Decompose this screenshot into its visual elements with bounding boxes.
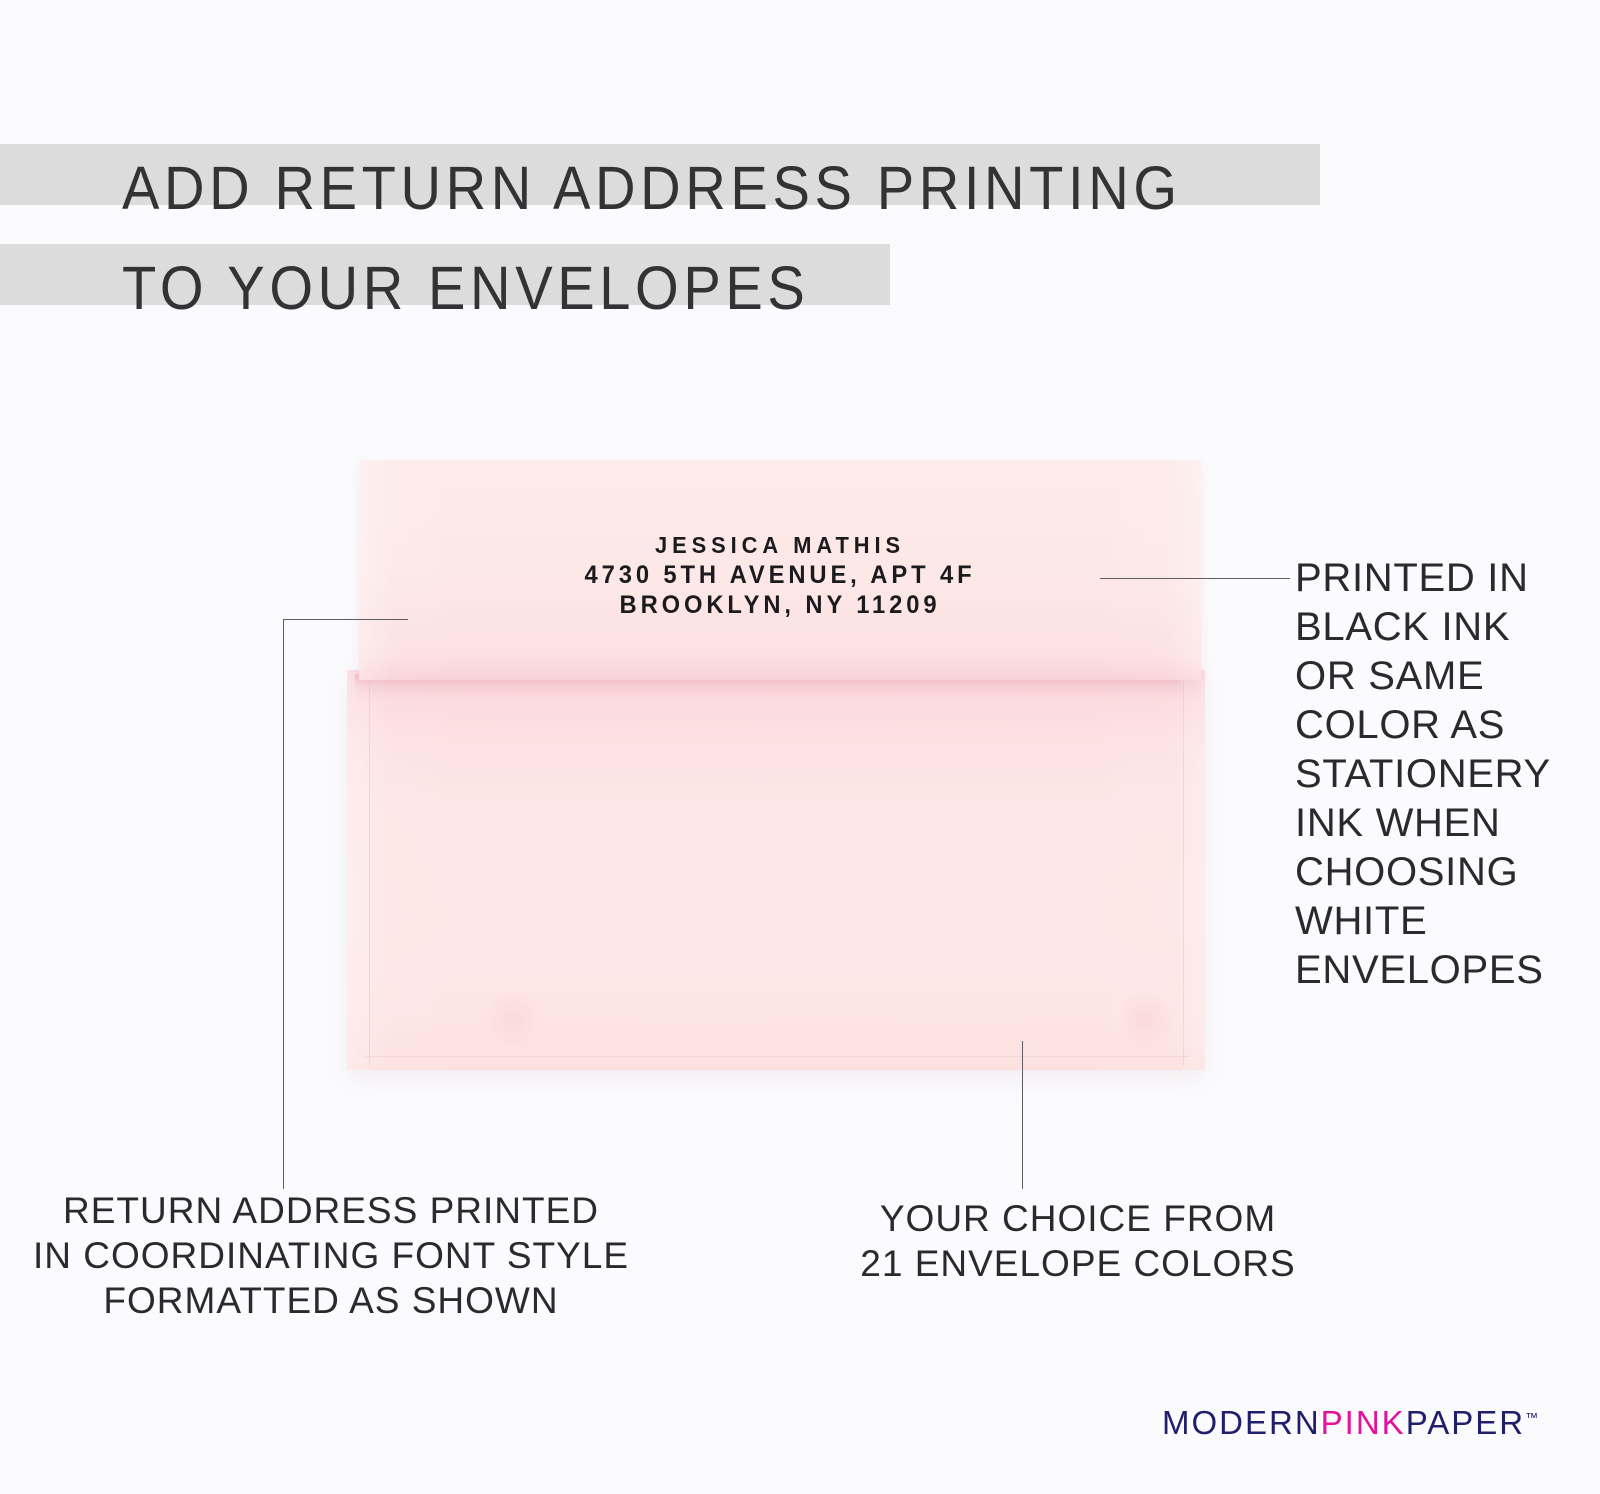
envelope-body-sheen xyxy=(347,670,1205,1070)
callout-right-line: WHITE xyxy=(1295,897,1595,946)
envelope-body-bottom-edge xyxy=(365,1056,1189,1057)
return-address-block: JESSICA MATHIS 4730 5TH AVENUE, APT 4F B… xyxy=(359,530,1201,620)
envelope-body-seam-right xyxy=(1183,674,1184,1066)
envelope-flap: JESSICA MATHIS 4730 5TH AVENUE, APT 4F B… xyxy=(359,460,1201,680)
page-heading: ADD RETURN ADDRESS PRINTING TO YOUR ENVE… xyxy=(0,138,1600,338)
callout-right-line: OR SAME xyxy=(1295,652,1595,701)
page-title-line-2: TO YOUR ENVELOPES xyxy=(122,238,809,338)
envelope-body xyxy=(347,670,1205,1070)
heading-line-1-wrap: ADD RETURN ADDRESS PRINTING xyxy=(0,138,1600,238)
callout-right-line: INK WHEN xyxy=(1295,799,1595,848)
callout-bottom-left-line: FORMATTED AS SHOWN xyxy=(26,1278,636,1323)
brand-logo: MODERNPINKPAPER™ xyxy=(1162,1404,1539,1442)
logo-modern: MODERN xyxy=(1162,1404,1321,1441)
callout-right-line: ENVELOPES xyxy=(1295,946,1595,995)
callout-right-line: COLOR AS xyxy=(1295,701,1595,750)
logo-pink: PINK xyxy=(1321,1404,1406,1441)
envelope-texture-left xyxy=(485,990,541,1050)
callout-return-address-font: RETURN ADDRESS PRINTED IN COORDINATING F… xyxy=(26,1188,636,1323)
envelope-texture-right xyxy=(1117,990,1173,1050)
callout-right-line: STATIONERY xyxy=(1295,750,1595,799)
leader-line-center-vertical xyxy=(1022,1041,1023,1189)
envelope-mockup: JESSICA MATHIS 4730 5TH AVENUE, APT 4F B… xyxy=(345,460,1207,1072)
callout-bottom-left-line: RETURN ADDRESS PRINTED xyxy=(26,1188,636,1233)
heading-line-2-wrap: TO YOUR ENVELOPES xyxy=(0,238,1600,338)
leader-line-left-vertical xyxy=(283,619,284,1189)
envelope-body-seam-left xyxy=(369,674,370,1066)
callout-bottom-center-line: 21 ENVELOPE COLORS xyxy=(848,1241,1308,1286)
callout-bottom-left-line: IN COORDINATING FONT STYLE xyxy=(26,1233,636,1278)
logo-paper: PAPER xyxy=(1406,1404,1525,1441)
return-address-name: JESSICA MATHIS xyxy=(380,530,1180,560)
callout-envelope-colors: YOUR CHOICE FROM 21 ENVELOPE COLORS xyxy=(848,1196,1308,1286)
callout-right-line: CHOOSING xyxy=(1295,848,1595,897)
return-address-city-state-zip: BROOKLYN, NY 11209 xyxy=(380,590,1180,620)
trademark-symbol: ™ xyxy=(1525,1410,1539,1425)
callout-right-line: PRINTED IN xyxy=(1295,554,1595,603)
callout-printed-in-black-ink: PRINTED IN BLACK INK OR SAME COLOR AS ST… xyxy=(1295,554,1595,995)
callout-bottom-center-line: YOUR CHOICE FROM xyxy=(848,1196,1308,1241)
page-title-line-1: ADD RETURN ADDRESS PRINTING xyxy=(122,138,1182,238)
callout-right-line: BLACK INK xyxy=(1295,603,1595,652)
return-address-street: 4730 5TH AVENUE, APT 4F xyxy=(380,560,1180,590)
